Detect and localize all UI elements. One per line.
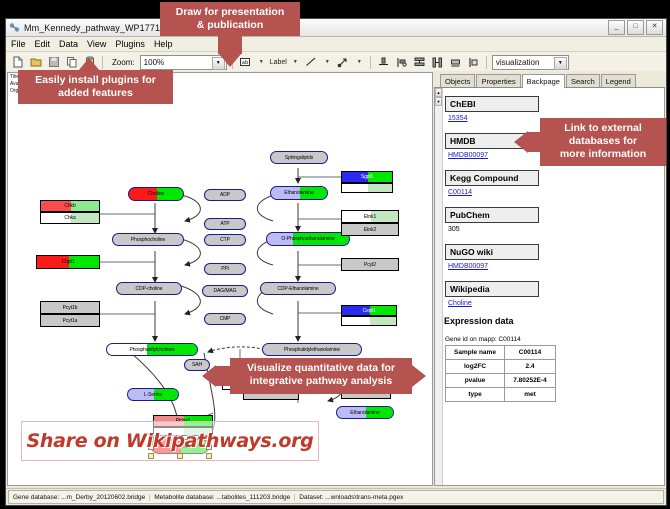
cell-value: 2.4 — [505, 360, 556, 374]
cell-key: type — [446, 388, 505, 402]
menu-item-view[interactable]: View — [87, 39, 106, 49]
link-nugo[interactable]: HMDB00097 — [448, 263, 660, 270]
menu-item-help[interactable]: Help — [154, 39, 173, 49]
callout-visualize-stem — [216, 366, 230, 386]
node-o-phosphoethanolamine[interactable]: O-Phosphoethanolamine — [266, 232, 350, 246]
tab-backpage[interactable]: Backpage — [522, 74, 565, 88]
node-chka[interactable]: Chka — [40, 212, 100, 224]
node-cdp-ethanolamine[interactable]: CDP-Ethanolamine — [260, 282, 336, 295]
node-label: ADP — [220, 192, 230, 198]
node-label: SAH — [192, 362, 202, 368]
node-label: CDP-Ethanolamine — [277, 286, 318, 292]
node-etnk1[interactable]: Etnk1 — [341, 210, 399, 223]
node-phosphatidylcholines[interactable]: Phosphatidylcholines — [106, 343, 198, 356]
toolbar-separator-3 — [370, 56, 371, 69]
node-chpt1[interactable]: Chpt1 — [36, 255, 100, 269]
visualization-combo[interactable]: visualization ▼ — [492, 55, 569, 70]
copy-icon[interactable] — [64, 55, 79, 70]
node-pcyt2[interactable]: Pcyt2 — [341, 258, 399, 271]
node-atp[interactable]: ATP — [204, 218, 246, 230]
node-label: CMP — [220, 316, 231, 322]
node-choline-top[interactable]: Choline — [128, 187, 184, 201]
distribute-horizontal-icon[interactable] — [430, 55, 445, 70]
link-kegg[interactable]: C00114 — [448, 189, 660, 196]
tab-search[interactable]: Search — [566, 74, 600, 87]
zoom-label: Zoom: — [112, 58, 135, 67]
node-label: O-Phosphoethanolamine — [281, 236, 334, 242]
tab-objects[interactable]: Objects — [440, 74, 475, 87]
node-label: Chka — [64, 215, 75, 221]
node-label: Chpt1 — [62, 259, 75, 265]
cell-key: log2FC — [446, 360, 505, 374]
size-equal-icon[interactable] — [448, 55, 463, 70]
table-row: log2FC 2.4 — [446, 360, 556, 374]
minimize-button[interactable]: _ — [608, 20, 625, 35]
node-label: DAG/MAG — [214, 288, 237, 294]
line-dropdown-icon[interactable]: ▼ — [322, 56, 333, 69]
panel-scrollbar[interactable]: ▲ ▼ — [435, 88, 443, 485]
table-row: type met — [446, 388, 556, 402]
callout-links-arrow — [514, 131, 528, 153]
node-label: CDP-choline — [136, 286, 163, 292]
align-left-icon[interactable] — [394, 55, 409, 70]
node-label: Sphingolipids — [285, 155, 313, 161]
callout-draw-stem — [218, 36, 242, 54]
value-pubchem: 305 — [448, 226, 660, 233]
node-label: Etnk2 — [364, 227, 376, 233]
node-cept1-lower[interactable] — [341, 316, 397, 326]
window-buttons: _ □ ✕ — [608, 20, 663, 35]
toolbar-separator-4 — [486, 56, 487, 69]
node-phosphatidylethanolamine[interactable]: Phosphatidylethanolamine — [262, 343, 362, 356]
callout-draw-arrow — [219, 54, 241, 67]
open-icon[interactable] — [28, 55, 43, 70]
callout-visualize-line1: Visualize quantitative data for — [238, 362, 404, 375]
screenshot-root: Mm_Kennedy_pathway_WP1771_45176.gpml _ □… — [0, 0, 670, 509]
zoom-value: 100% — [144, 58, 164, 67]
callout-links: Link to external databases for more info… — [540, 118, 666, 166]
status-bar: Gene database: ...m_Derby_20120602.bridg… — [6, 488, 666, 505]
node-label: ATP — [220, 221, 229, 227]
callout-draw: Draw for presentation & publication — [160, 2, 300, 36]
callout-links-line3: more information — [548, 148, 658, 161]
section-header-chebi: ChEBI — [445, 96, 539, 112]
callout-draw-line1: Draw for presentation — [168, 6, 292, 19]
callout-draw-line2: & publication — [168, 19, 292, 32]
node-label: Cept1 — [363, 308, 376, 314]
label-dropdown-icon[interactable]: ▼ — [290, 56, 301, 69]
node-sgpl1-lower[interactable] — [341, 183, 393, 193]
node-label: Phosphocholine — [131, 237, 165, 243]
expression-half-green — [370, 317, 396, 325]
visualization-chevron-down-icon[interactable]: ▼ — [554, 57, 567, 70]
link-wikipedia[interactable]: Choline — [448, 300, 660, 307]
node-pcyt1b[interactable]: Pcyt1b — [40, 301, 100, 314]
close-button[interactable]: ✕ — [646, 20, 663, 35]
callout-visualize-line2: integrative pathway analysis — [238, 375, 404, 388]
visualization-value: visualization — [496, 58, 540, 67]
svg-text:ab: ab — [242, 60, 249, 66]
callout-plugins: Easily install plugins for added feature… — [18, 70, 173, 104]
node-etnk2[interactable]: Etnk2 — [341, 223, 399, 236]
title-bar: Mm_Kennedy_pathway_WP1771_45176.gpml _ □… — [6, 19, 666, 37]
cell-key: Sample name — [446, 346, 505, 360]
status-metabolite-database: Metabolite database: ...tabolites_111203… — [150, 494, 295, 501]
menu-bar: File Edit Data View Plugins Help — [6, 37, 666, 52]
node-pcyt1a[interactable]: Pcyt1a — [40, 314, 100, 327]
node-label: Ethanolamine — [350, 410, 379, 416]
section-header-kegg: Kegg Compound — [445, 170, 539, 186]
callout-links-line2: databases for — [548, 135, 658, 148]
tab-legend[interactable]: Legend — [601, 74, 636, 87]
side-panel-tabs: Objects Properties Backpage Search Legen… — [434, 72, 665, 88]
callout-links-line1: Link to external — [548, 122, 658, 135]
callout-visualize: Visualize quantitative data for integrat… — [230, 358, 412, 394]
node-label: Ethanolamine — [284, 190, 313, 196]
node-cmp[interactable]: CMP — [204, 313, 246, 325]
node-label: PPi — [221, 266, 228, 272]
save-icon[interactable] — [46, 55, 61, 70]
node-adp[interactable]: ADP — [204, 189, 246, 201]
status-dataset: Dataset: ...wnloads\trans-meta.pgex — [295, 494, 407, 501]
share-callout: Share on Wikipathways.org — [21, 421, 319, 461]
align-top-icon[interactable] — [376, 55, 391, 70]
gene-id-line: Gene id on mapp: C00114 — [445, 336, 660, 343]
section-header-pubchem: PubChem — [445, 207, 539, 223]
new-icon[interactable] — [10, 55, 25, 70]
scroll-up-icon[interactable]: ▲ — [435, 88, 442, 97]
menu-item-edit[interactable]: Edit — [35, 39, 51, 49]
pathway-canvas[interactable]: Title: Availa Organ — [7, 72, 433, 486]
cell-value: C00114 — [505, 346, 556, 360]
datanode-dropdown-icon[interactable]: ▼ — [256, 56, 267, 69]
section-header-nugo: NuGO wiki — [445, 244, 539, 260]
share-text: Share on Wikipathways.org — [27, 430, 314, 452]
node-label: CTP — [220, 237, 230, 243]
menu-item-data[interactable]: Data — [59, 39, 78, 49]
menu-item-file[interactable]: File — [11, 39, 26, 49]
node-label: Pcyt1b — [63, 305, 78, 311]
anchor-icon[interactable] — [336, 55, 351, 70]
node-label: Sgpl1 — [361, 174, 373, 180]
callout-visualize-arrow — [202, 365, 216, 387]
node-cdp-choline[interactable]: CDP-choline — [116, 282, 182, 295]
node-ppi[interactable]: PPi — [204, 263, 246, 275]
node-label: Phosphatidylcholines — [130, 347, 175, 353]
node-label: Pcyt2 — [364, 262, 376, 268]
section-header-wikipedia: Wikipedia — [445, 281, 539, 297]
tab-properties[interactable]: Properties — [476, 74, 520, 87]
status-bar-inner: Gene database: ...m_Derby_20120602.bridg… — [8, 490, 664, 504]
expression-half-green — [368, 184, 392, 192]
node-label: L-Serine — [144, 392, 162, 398]
callout-visualize-arrow-right — [412, 365, 426, 387]
scroll-down-icon[interactable]: ▼ — [435, 97, 442, 106]
node-cept1[interactable]: Cept1 — [341, 305, 397, 316]
table-row: Sample name C00114 — [446, 346, 556, 360]
cell-key: pvalue — [446, 374, 505, 388]
stack-icon[interactable] — [466, 55, 481, 70]
maximize-button[interactable]: □ — [627, 20, 644, 35]
node-l-serine-left[interactable]: L-Serine — [127, 388, 179, 401]
node-dagmag[interactable]: DAG/MAG — [202, 285, 248, 297]
status-gene-database: Gene database: ...m_Derby_20120602.bridg… — [9, 494, 150, 501]
node-sphingolipids[interactable]: Sphingolipids — [270, 151, 328, 164]
node-ctp[interactable]: CTP — [204, 234, 246, 246]
node-ethanolamine[interactable]: Ethanolamine — [270, 186, 328, 200]
node-ethanolamine-bottom[interactable]: Ethanolamine — [336, 406, 394, 419]
node-phosphocholine[interactable]: Phosphocholine — [112, 233, 184, 246]
expression-table: Sample name C00114 log2FC 2.4 pvalue 7.8… — [445, 345, 556, 402]
node-label: Choline — [148, 191, 164, 197]
node-sgpl1[interactable]: Sgpl1 — [341, 171, 393, 183]
toolbar-separator — [102, 56, 103, 69]
anchor-dropdown-icon[interactable]: ▼ — [354, 56, 365, 69]
expression-data-title: Expression data — [444, 316, 660, 326]
node-label: Phosphatidylethanolamine — [284, 347, 340, 353]
line-icon[interactable] — [304, 55, 319, 70]
cell-value: 7.80252E-4 — [505, 374, 556, 388]
menu-item-plugins[interactable]: Plugins — [115, 39, 145, 49]
zoom-combo[interactable]: 100% ▼ — [140, 55, 227, 70]
node-label: Pcyt1a — [63, 318, 78, 324]
node-chkb[interactable]: Chkb — [40, 200, 100, 212]
node-label: Etnk1 — [364, 214, 376, 220]
callout-plugins-line2: added features — [26, 87, 165, 100]
node-label: Chkb — [64, 203, 75, 209]
label-tool-label: Label — [270, 59, 287, 66]
table-row: pvalue 7.80252E-4 — [446, 374, 556, 388]
callout-plugins-line1: Easily install plugins for — [26, 74, 165, 87]
cell-value: met — [505, 388, 556, 402]
pathvisio-icon — [9, 22, 20, 33]
distribute-vertical-icon[interactable] — [412, 55, 427, 70]
